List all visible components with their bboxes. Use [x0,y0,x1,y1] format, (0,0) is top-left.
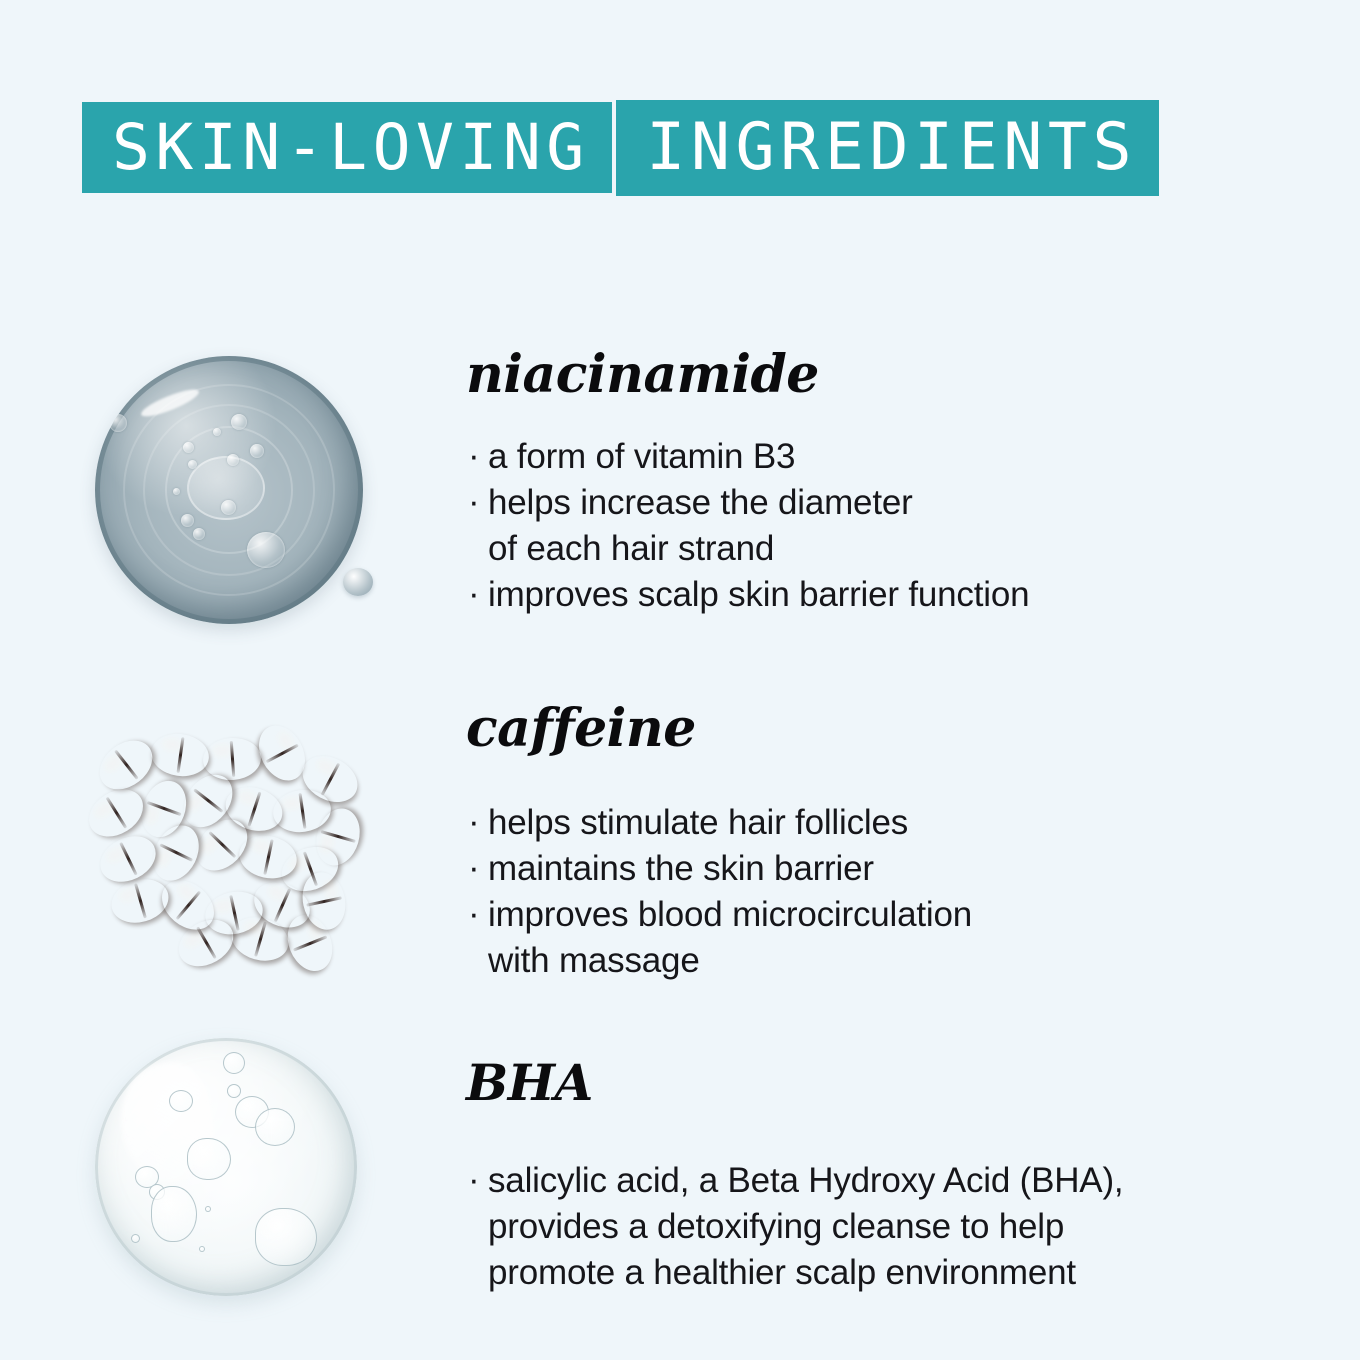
ingredient-copy-niacinamide: niacinamide a form of vitamin B3 helps i… [466,346,1029,618]
ingredient-name-caffeine: caffeine [466,700,972,758]
ingredient-copy-caffeine: caffeine helps stimulate hair follicles … [466,700,972,984]
list-item: improves scalp skin barrier function [466,572,1029,618]
ingredient-name-bha: BHA [466,1054,1123,1112]
title-line-1: SKIN-LOVING [82,102,612,193]
list-item: improves blood microcirculation with mas… [466,892,972,984]
list-item: helps increase the diameter of each hair… [466,480,1029,572]
page-title: SKIN-LOVING INGREDIENTS [82,86,1159,196]
blue-gel-droplet-image [95,356,395,628]
coffee-beans-image [95,732,385,972]
ingredient-name-niacinamide: niacinamide [466,346,1029,404]
ingredients-infographic: SKIN-LOVING INGREDIENTS [0,0,1360,1360]
clear-gel-droplet-image [95,1038,390,1298]
ingredient-section-caffeine: caffeine helps stimulate hair follicles … [0,700,1360,1020]
benefit-list-caffeine: helps stimulate hair follicles maintains… [466,800,972,984]
ingredient-section-niacinamide: niacinamide a form of vitamin B3 helps i… [0,338,1360,648]
benefit-list-bha: salicylic acid, a Beta Hydroxy Acid (BHA… [466,1158,1123,1296]
list-item: salicylic acid, a Beta Hydroxy Acid (BHA… [466,1158,1123,1296]
ingredient-copy-bha: BHA salicylic acid, a Beta Hydroxy Acid … [466,1054,1123,1296]
title-line-2: INGREDIENTS [616,100,1159,196]
ingredient-section-bha: BHA salicylic acid, a Beta Hydroxy Acid … [0,1030,1360,1330]
benefit-list-niacinamide: a form of vitamin B3 helps increase the … [466,434,1029,618]
satellite-droplet-icon [343,568,373,596]
list-item: a form of vitamin B3 [466,434,1029,480]
list-item: maintains the skin barrier [466,846,972,892]
list-item: helps stimulate hair follicles [466,800,972,846]
